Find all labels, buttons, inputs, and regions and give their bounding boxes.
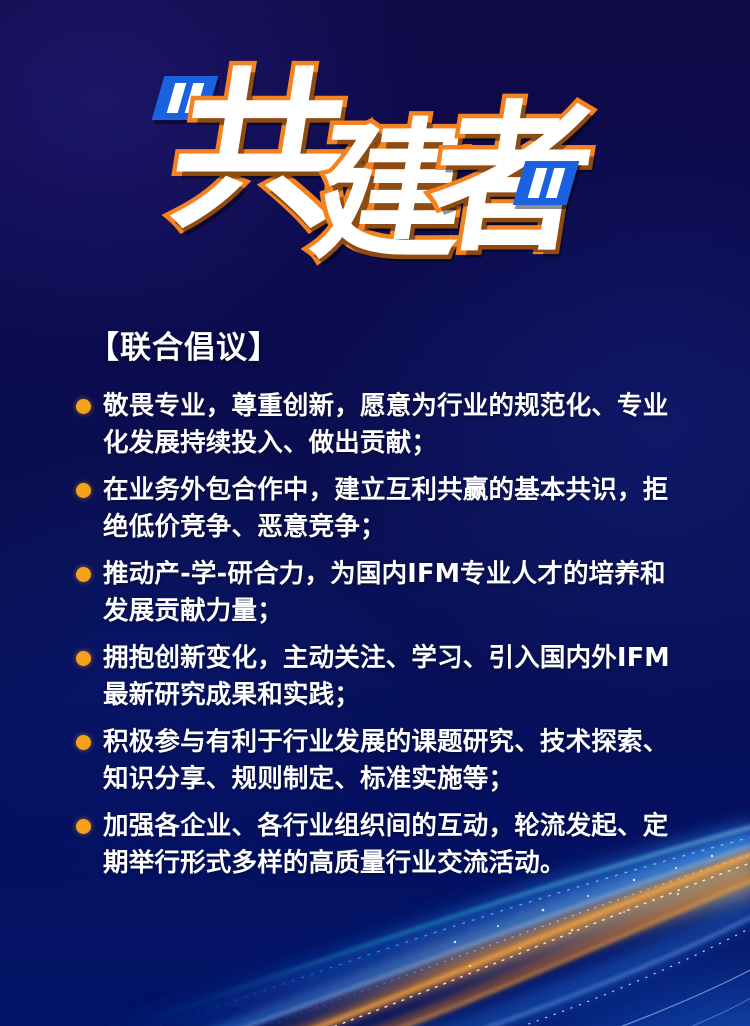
title-block: 共 建 者	[0, 58, 750, 294]
list-item-text: 在业务外包合作中，建立互利共赢的基本共识，拒绝低价竞争、恶意竞争；	[103, 472, 688, 547]
list-item: 拥抱创新变化，主动关注、学习、引入国内外IFM最新研究成果和实践；	[76, 640, 688, 715]
list-item: 敬畏专业，尊重创新，愿意为行业的规范化、专业化发展持续投入、做出贡献；	[76, 388, 688, 463]
poster-canvas: 共 建 者 【联合倡议】 敬畏专业，尊重创新，愿意为行业的规范化、专业化发展持续…	[0, 0, 750, 1026]
list-item: 积极参与有利于行业发展的课题研究、技术探索、知识分享、规则制定、标准实施等；	[76, 724, 688, 799]
light-trails-decoration	[0, 796, 750, 1026]
list-item: 在业务外包合作中，建立互利共赢的基本共识，拒绝低价竞争、恶意竞争；	[76, 472, 688, 547]
list-item-text: 积极参与有利于行业发展的课题研究、技术探索、知识分享、规则制定、标准实施等；	[103, 724, 688, 799]
list-item: 推动产-学-研合力，为国内IFM专业人才的培养和发展贡献力量；	[76, 556, 688, 631]
bullet-dot-icon	[76, 483, 91, 498]
list-item-text: 推动产-学-研合力，为国内IFM专业人才的培养和发展贡献力量；	[103, 556, 688, 631]
list-item-text: 拥抱创新变化，主动关注、学习、引入国内外IFM最新研究成果和实践；	[103, 640, 688, 715]
list-item-text: 敬畏专业，尊重创新，愿意为行业的规范化、专业化发展持续投入、做出贡献；	[103, 388, 688, 463]
bullet-dot-icon	[76, 567, 91, 582]
bullet-dot-icon	[76, 735, 91, 750]
bullet-dot-icon	[76, 399, 91, 414]
title-char-3: 者	[419, 100, 602, 260]
section-heading: 【联合倡议】	[88, 322, 280, 367]
bullet-dot-icon	[76, 651, 91, 666]
